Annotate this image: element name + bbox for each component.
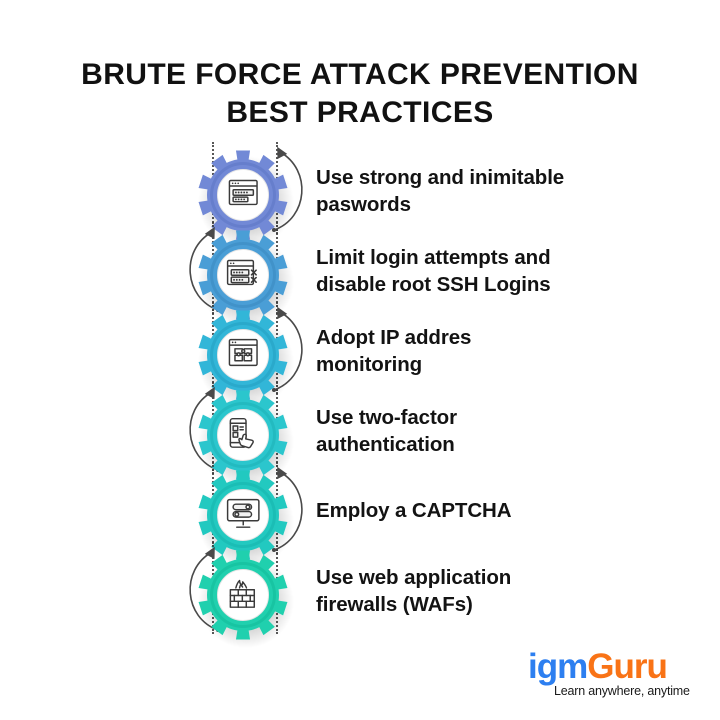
- page-title-line-1: BRUTE FORCE ATTACK PREVENTION: [0, 56, 720, 94]
- step-item[interactable]: Employ a CAPTCHA: [0, 468, 720, 548]
- logo-text-guru: Guru: [587, 647, 667, 686]
- step-item[interactable]: Use two-factor authentication: [0, 388, 720, 468]
- gear-graphic-6: [183, 548, 303, 658]
- step-label-2: Limit login attempts and disable root SS…: [316, 244, 616, 298]
- step-label-line-2: monitoring: [316, 351, 616, 378]
- step-label-line-2: authentication: [316, 431, 616, 458]
- infographic-page: BRUTE FORCE ATTACK PREVENTION BEST PRACT…: [0, 0, 720, 720]
- step-label-line-1: Use two-factor: [316, 404, 616, 431]
- logo-wordmark: igmGuru: [528, 648, 708, 686]
- step-label-line-2: paswords: [316, 191, 616, 218]
- step-label-line-2: firewalls (WAFs): [316, 591, 616, 618]
- page-title: BRUTE FORCE ATTACK PREVENTION BEST PRACT…: [0, 56, 720, 132]
- step-label-line-1: Use strong and inimitable: [316, 164, 616, 191]
- password-form-icon: [229, 181, 257, 205]
- ip-puzzle-browser-icon: [229, 340, 257, 366]
- step-label-1: Use strong and inimitable paswords: [316, 164, 616, 218]
- logo-tagline: Learn anywhere, anytime: [528, 684, 708, 698]
- step-item[interactable]: Use strong and inimitable paswords: [0, 148, 720, 228]
- brand-logo: igmGuru Learn anywhere, anytime: [528, 648, 708, 698]
- step-label-line-1: Limit login attempts and: [316, 244, 616, 271]
- step-label-4: Use two-factor authentication: [316, 404, 616, 458]
- step-item[interactable]: Limit login attempts and disable root SS…: [0, 228, 720, 308]
- logo-text-igm: igm: [528, 647, 587, 686]
- step-label-line-1: Employ a CAPTCHA: [316, 497, 616, 524]
- steps-list: Use strong and inimitable paswords: [0, 148, 720, 628]
- step-label-5: Employ a CAPTCHA: [316, 497, 616, 524]
- step-label-6: Use web application firewalls (WAFs): [316, 564, 616, 618]
- step-item[interactable]: Adopt IP addres monitoring: [0, 308, 720, 388]
- step-item[interactable]: Use web application firewalls (WAFs): [0, 548, 720, 628]
- step-label-line-1: Adopt IP addres: [316, 324, 616, 351]
- step-label-line-2: disable root SSH Logins: [316, 271, 616, 298]
- step-label-3: Adopt IP addres monitoring: [316, 324, 616, 378]
- step-label-line-1: Use web application: [316, 564, 616, 591]
- failed-login-form-icon: [228, 261, 257, 285]
- step-gear-icon-6[interactable]: [183, 548, 303, 658]
- page-title-line-2: BEST PRACTICES: [0, 94, 720, 132]
